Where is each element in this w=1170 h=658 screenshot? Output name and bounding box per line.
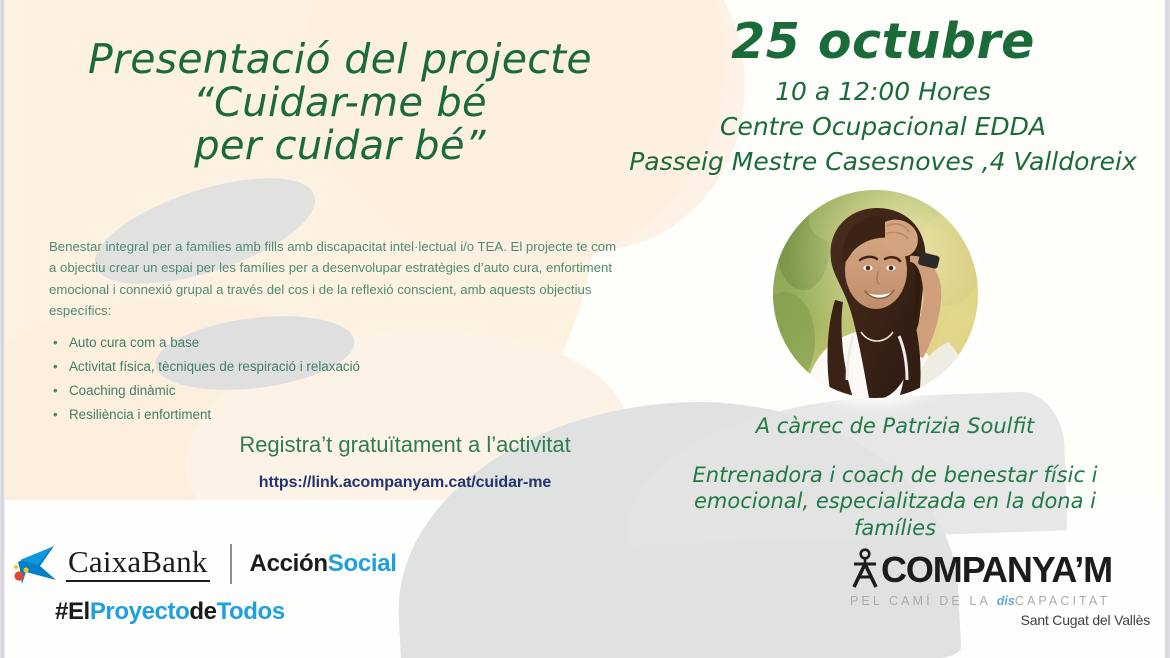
speaker-bio-line-3: famílies [635, 515, 1155, 541]
person-figure-icon [850, 548, 880, 588]
title-line-1: Presentació del projecte [55, 38, 625, 82]
social-text: Social [328, 550, 397, 577]
event-time: 10 a 12:00 Hores [605, 77, 1161, 106]
registration-prompt: Registra’t gratuïtament a l’activitat [125, 432, 685, 458]
logo-divider [230, 544, 232, 584]
list-item: Coaching dinàmic [49, 379, 469, 403]
speaker-bio: Entrenadora i coach de benestar físic i … [635, 462, 1155, 541]
acompanyam-logo: COMPANYA’M PEL CAMÍ DE LA disCAPACITAT S… [850, 548, 1150, 628]
speaker-bio-line-1: Entrenadora i coach de benestar físic i [635, 462, 1155, 488]
project-description: Benestar integral per a famílies amb fil… [49, 236, 624, 322]
event-address: Passeig Mestre Casesnoves ,4 Valldoreix [605, 147, 1161, 176]
poster-slide: Presentació del projecte “Cuidar-me bé p… [0, 0, 1170, 658]
acompanyam-tagline: PEL CAMÍ DE LA disCAPACITAT [850, 594, 1150, 608]
speaker-bio-line-2: emocional, especialitzada en la dona i [635, 488, 1155, 514]
window-right-edge [1164, 0, 1170, 658]
list-item: Auto cura com a base [49, 331, 469, 355]
speaker-credit: A càrrec de Patrizia Soulfit [645, 414, 1145, 438]
window-left-edge [0, 0, 5, 658]
title-line-2: “Cuidar-me bé [55, 82, 625, 125]
caixabank-logo: CaixaBank AcciónSocial [10, 540, 397, 588]
list-item: Resiliència i enfortiment [49, 403, 469, 427]
avatar [773, 190, 978, 398]
event-venue: Centre Ocupacional EDDA [605, 112, 1161, 141]
tagline-suffix: CAPACITAT [1015, 594, 1110, 608]
speaker-photo [773, 190, 978, 398]
objectives-list: Auto cura com a base Activitat física, t… [49, 331, 469, 426]
registration-link[interactable]: https://link.acompanyam.cat/cuidar-me [125, 474, 685, 492]
hashtag-part-4: Todos [217, 598, 285, 625]
tagline-prefix: PEL CAMÍ DE LA [850, 594, 997, 608]
acompanyam-city: Sant Cugat del Vallès [850, 612, 1150, 628]
event-details: 25 octubre 10 a 12:00 Hores Centre Ocupa… [605, 14, 1161, 176]
caixabank-star-icon [10, 540, 62, 588]
hashtag-part-3: de [189, 598, 216, 625]
title-line-3: per cuidar bé” [55, 125, 625, 168]
event-date: 25 octubre [605, 14, 1161, 71]
hashtag-part-2: Proyecto [90, 598, 190, 625]
tagline-dis: dis [997, 594, 1015, 608]
caixabank-wordmark: CaixaBank [66, 546, 210, 583]
list-item: Activitat física, tècniques de respiraci… [49, 355, 469, 379]
caixabank-hashtag: #ElProyectodeTodos [55, 598, 285, 626]
poster-canvas: Presentació del projecte “Cuidar-me bé p… [5, 0, 1164, 658]
hashtag-part-1: #El [55, 598, 90, 625]
acompanyam-text: COMPANYA’M [881, 553, 1112, 588]
portrait-illustration [773, 190, 978, 398]
acompanyam-wordmark-row: COMPANYA’M [850, 548, 1150, 588]
accion-text: Acción [250, 550, 328, 577]
accion-social-wordmark: AcciónSocial [250, 550, 397, 578]
poster-title: Presentació del projecte “Cuidar-me bé p… [55, 38, 625, 167]
